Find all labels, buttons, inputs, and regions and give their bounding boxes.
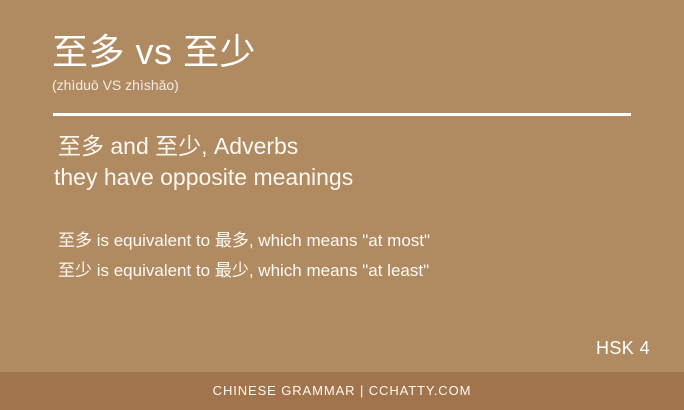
lead-text-block: 至多 and 至少, Adverbs they have opposite me… xyxy=(58,131,658,193)
lead-line-1: 至多 and 至少, Adverbs xyxy=(58,131,658,162)
detail-line-1: 至多 is equivalent to 最多, which means "at … xyxy=(58,226,658,256)
lead-line-2: they have opposite meanings xyxy=(54,162,658,193)
lesson-slide: 至多 vs 至少 (zhìduō VS zhìshǎo) 至多 and 至少, … xyxy=(0,0,684,410)
slide-header: 至多 vs 至少 (zhìduō VS zhìshǎo) xyxy=(52,30,632,94)
title-pinyin: (zhìduō VS zhìshǎo) xyxy=(52,76,632,94)
footer-branding-text: CHINESE GRAMMAR | CCHATTY.COM xyxy=(213,383,472,399)
header-divider xyxy=(53,113,631,116)
page-title: 至多 vs 至少 xyxy=(52,30,632,74)
detail-line-2: 至少 is equivalent to 最少, which means "at … xyxy=(58,256,658,286)
slide-footer: CHINESE GRAMMAR | CCHATTY.COM xyxy=(0,372,684,410)
hsk-level-badge: HSK 4 xyxy=(596,337,650,359)
detail-text-block: 至多 is equivalent to 最多, which means "at … xyxy=(58,226,658,286)
